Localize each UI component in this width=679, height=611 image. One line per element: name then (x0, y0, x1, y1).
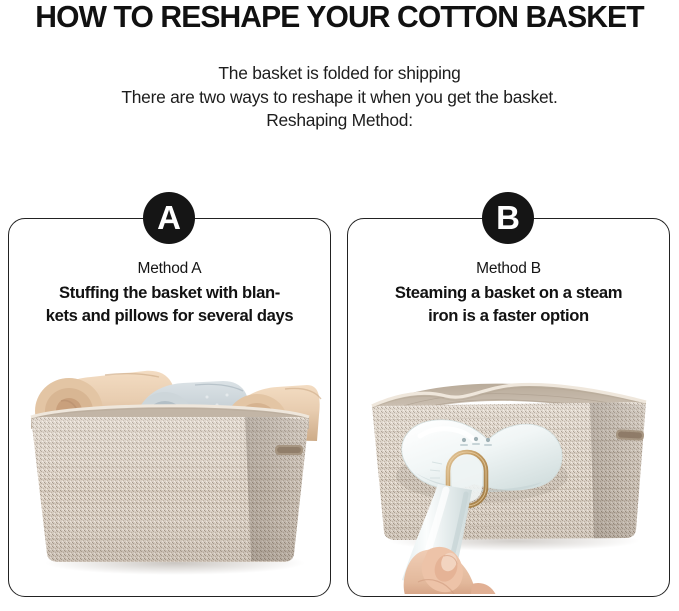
method-panel-b: Method B Steaming a basket on a steam ir… (347, 218, 670, 597)
page-title: HOW TO RESHAPE YOUR COTTON BASKET (5, 0, 674, 36)
basket-handle-right (275, 445, 303, 455)
basket-with-blankets-image (17, 339, 323, 589)
subtitle-line-2: There are two ways to reshape it when yo… (0, 86, 679, 110)
hand-holding-steamer (404, 547, 498, 594)
method-a-description: Stuffing the basket with blan- kets and … (9, 282, 330, 327)
subtitle-line-1: The basket is folded for shipping (0, 62, 679, 86)
method-b-heading: Method B (348, 260, 669, 278)
basket-being-steamed-image (354, 344, 664, 594)
method-a-heading: Method A (9, 260, 330, 278)
subtitle-line-3: Reshaping Method: (0, 109, 679, 133)
method-panel-a: Method A Stuffing the basket with blan- … (8, 218, 331, 597)
method-b-desc-line-2: iron is a faster option (348, 305, 669, 328)
method-a-desc-line-1: Stuffing the basket with blan- (9, 282, 330, 305)
method-b-desc-line-1: Steaming a basket on a steam (348, 282, 669, 305)
method-a-desc-line-2: kets and pillows for several days (9, 305, 330, 328)
basket-handle-right (616, 429, 644, 440)
method-badge-a: A (143, 192, 195, 244)
method-badge-b: B (482, 192, 534, 244)
subtitle-block: The basket is folded for shipping There … (0, 62, 679, 133)
cotton-rope-basket (17, 399, 323, 579)
method-b-description: Steaming a basket on a steam iron is a f… (348, 282, 669, 327)
